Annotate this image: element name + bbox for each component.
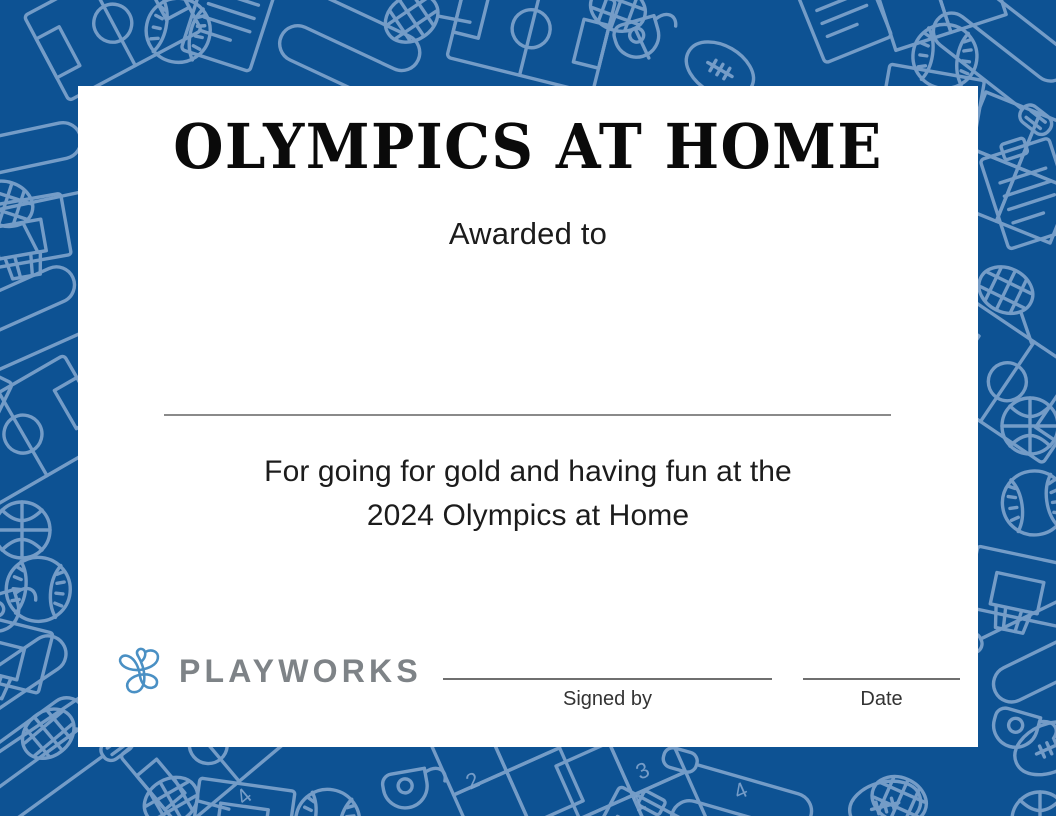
certificate-body: For going for gold and having fun at the… — [78, 450, 978, 538]
signed-by-label: Signed by — [443, 688, 772, 711]
date-label: Date — [803, 688, 960, 711]
certificate-page: 2 3 4 1 4 OLYMPICS AT HOME Awarded to Fo… — [0, 0, 1056, 816]
date-line[interactable] — [803, 678, 960, 680]
date-block: Date — [803, 678, 960, 711]
recipient-name-line[interactable] — [164, 414, 891, 416]
playworks-loop-icon — [113, 644, 169, 700]
signed-by-block: Signed by — [443, 678, 772, 711]
awarded-to-label: Awarded to — [78, 216, 978, 252]
signed-by-line[interactable] — [443, 678, 772, 680]
body-line-2: 2024 Olympics at Home — [78, 494, 978, 538]
body-line-1: For going for gold and having fun at the — [78, 450, 978, 494]
certificate-card: OLYMPICS AT HOME Awarded to For going fo… — [78, 86, 978, 747]
certificate-title: OLYMPICS AT HOME — [110, 112, 947, 182]
playworks-wordmark: PLAYWORKS — [179, 655, 422, 689]
playworks-logo: PLAYWORKS — [113, 642, 422, 702]
